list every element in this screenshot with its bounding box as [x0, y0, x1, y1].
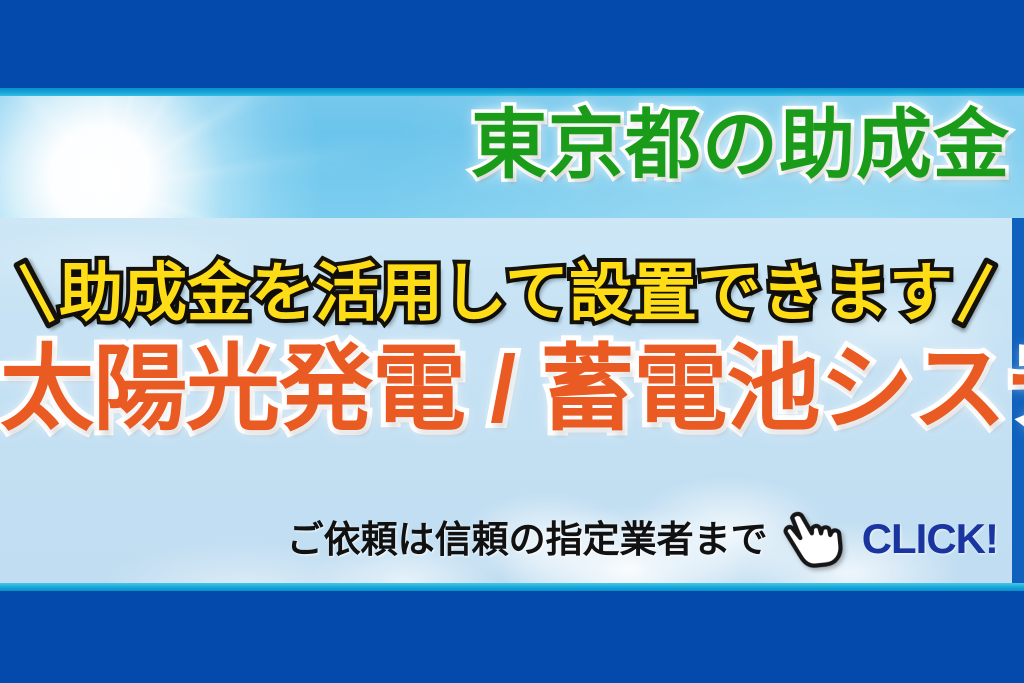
cta-click-label[interactable]: CLICK! — [862, 518, 998, 560]
sun-glow-icon — [0, 96, 320, 218]
slash-left-icon — [13, 257, 62, 330]
cta-row[interactable]: ご依頼は信頼の指定業者まで CLICK! — [0, 508, 1012, 570]
top-blue-bar — [0, 0, 1024, 88]
advertisement-banner[interactable]: 東京都の助成金 助成金を活用して設置できます 太陽光発電 / 蓄電池システム ご… — [0, 0, 1024, 683]
headline-green: 東京都の助成金 — [471, 108, 1010, 184]
bottom-blue-bar — [0, 591, 1024, 683]
headline-yellow: 助成金を活用して設置できます — [59, 261, 953, 325]
headline-orange: 太陽光発電 / 蓄電池システム — [0, 342, 1012, 436]
subheadline-row: 助成金を活用して設置できます — [0, 248, 1012, 338]
pointing-hand-cursor-icon[interactable] — [779, 506, 851, 573]
top-cyan-rule — [0, 88, 1024, 96]
slash-right-icon — [951, 257, 1000, 330]
bottom-cyan-rule — [0, 583, 1024, 591]
cta-text: ご依頼は信頼の指定業者まで — [287, 521, 768, 558]
lens-flare-icon — [118, 186, 144, 212]
